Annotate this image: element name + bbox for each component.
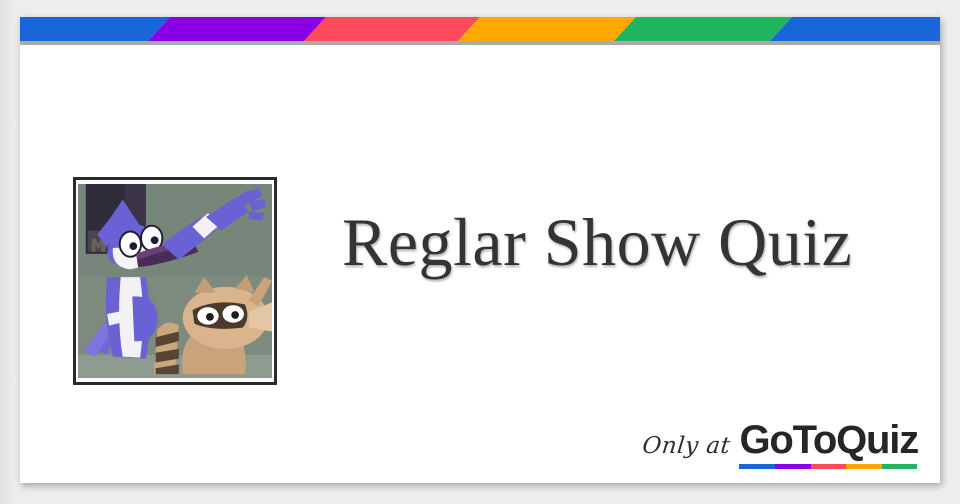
gotoquiz-color-rule	[739, 464, 917, 469]
quiz-thumbnail-frame[interactable]	[73, 177, 277, 385]
stripe-blue	[20, 17, 170, 41]
rule-segment-green	[882, 464, 918, 469]
rule-segment-orange	[846, 464, 882, 469]
rule-segment-red	[811, 464, 847, 469]
color-stripe-banner	[20, 17, 940, 41]
gotoquiz-logo[interactable]: GoToQuiz	[739, 419, 918, 469]
stripe-green	[614, 17, 792, 41]
brand-lockup[interactable]: Only at GoToQuiz	[642, 419, 918, 469]
stripe-red	[304, 17, 480, 41]
stripe-blue-2	[770, 17, 940, 41]
quiz-thumbnail	[78, 182, 272, 380]
stripe-orange	[458, 17, 636, 41]
brand-prefix: Only at	[640, 433, 732, 469]
gotoquiz-wordmark: GoToQuiz	[739, 419, 918, 461]
quiz-card: Reglar Show Quiz Only at GoToQuiz	[20, 17, 940, 483]
quiz-title: Reglar Show Quiz	[342, 203, 922, 281]
rule-segment-blue	[739, 464, 775, 469]
quiz-title-card-page: Reglar Show Quiz Only at GoToQuiz	[0, 0, 960, 504]
stripe-purple	[148, 17, 326, 41]
card-content: Reglar Show Quiz Only at GoToQuiz	[20, 45, 940, 483]
rule-segment-purple	[775, 464, 811, 469]
